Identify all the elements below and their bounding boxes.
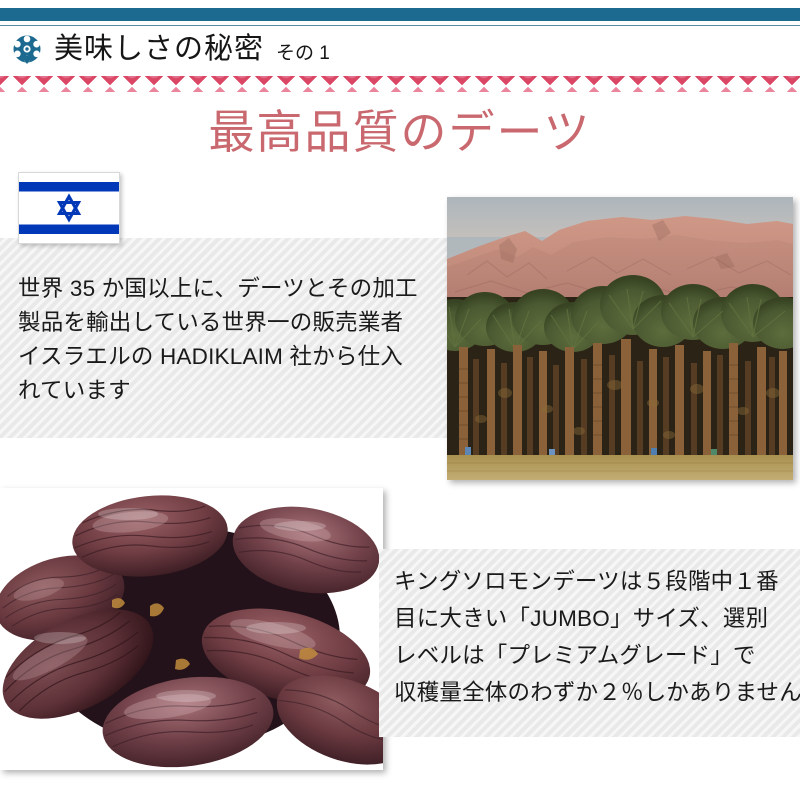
upper-body-line: れています xyxy=(18,374,450,408)
header-subtitle: その 1 xyxy=(276,44,330,72)
upper-body-line: 世界 35 か国以上に、デーツとその加工 xyxy=(18,272,450,306)
lower-body-line: キングソロモンデーツは５段階中１番 xyxy=(394,563,794,600)
upper-body-text: 世界 35 か国以上に、デーツとその加工 製品を輸出している世界一の販売業者 イ… xyxy=(18,272,450,408)
page-title: 最高品質のデーツ xyxy=(0,104,800,162)
upper-body-line: 製品を輸出している世界一の販売業者 xyxy=(18,306,450,340)
header-accent-bar xyxy=(0,8,800,21)
header-title: 美味しさの秘密 xyxy=(54,35,264,64)
flower-ornament-icon xyxy=(12,34,42,64)
dried-dates-closeup-photo xyxy=(0,488,383,770)
lower-body-line: 収穫量全体のわずか２％しかありません xyxy=(394,674,794,711)
lower-body-text: キングソロモンデーツは５段階中１番 目に大きい「JUMBO」サイズ、選別 レベル… xyxy=(394,563,794,711)
israel-flag xyxy=(18,172,120,244)
lower-body-line: レベルは「プレミアムグレード」で xyxy=(394,637,794,674)
lower-body-line: 目に大きい「JUMBO」サイズ、選別 xyxy=(394,600,794,637)
header: 美味しさの秘密 その 1 xyxy=(0,26,800,72)
date-palm-plantation-photo xyxy=(447,197,793,480)
decorative-pattern-band xyxy=(0,76,800,96)
upper-body-line: イスラエルの HADIKLAIM 社から仕入 xyxy=(18,340,450,374)
